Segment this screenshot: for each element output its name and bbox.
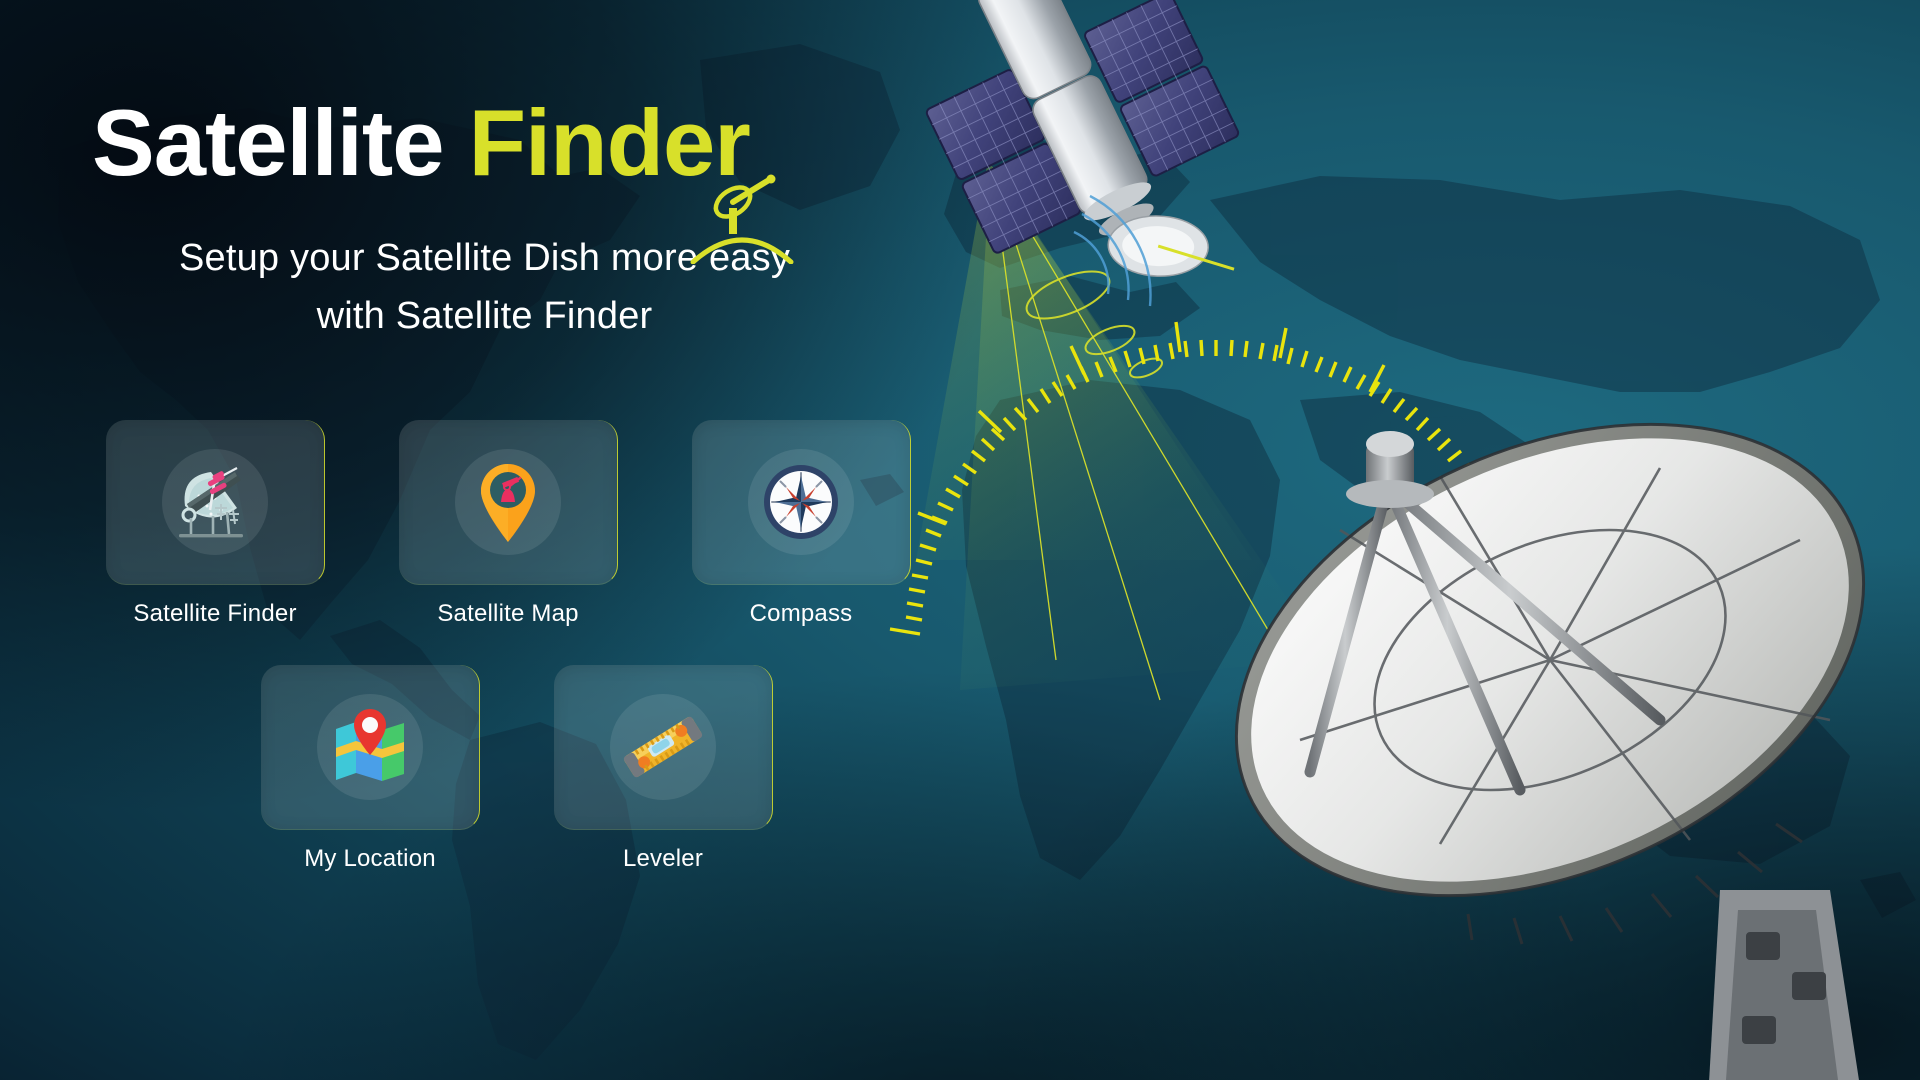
title-main: Satellite (92, 90, 444, 195)
feature-grid: Satellite Finder (106, 420, 936, 873)
page-title: Satellite Finder (92, 96, 922, 190)
feature-cell-leveler: Leveler (554, 665, 772, 873)
feature-cell-my-location: My Location (261, 665, 479, 873)
feature-label: Satellite Map (437, 600, 578, 628)
feature-cell-compass: Compass (692, 420, 910, 628)
feature-cell-satellite-finder: Satellite Finder (106, 420, 324, 628)
feature-card-leveler[interactable] (554, 665, 773, 830)
compass-icon (753, 454, 849, 550)
hero-text-block: Satellite Finder Setup your Satellite Di… (92, 96, 922, 346)
feature-row-2: My Location (261, 665, 936, 873)
title-satellite-dish-icon (687, 174, 797, 264)
feature-label: My Location (304, 845, 436, 873)
feature-card-satellite-finder[interactable] (106, 420, 325, 585)
feature-label: Compass (750, 600, 853, 628)
feature-card-satellite-map[interactable] (399, 420, 618, 585)
feature-label: Leveler (623, 845, 703, 873)
subtitle-line-2: with Satellite Finder (317, 295, 653, 337)
feature-card-compass[interactable] (692, 420, 911, 585)
map-location-icon (322, 699, 418, 795)
map-pin-satellite-icon (460, 454, 556, 550)
feature-cell-satellite-map: Satellite Map (399, 420, 617, 628)
feature-card-my-location[interactable] (261, 665, 480, 830)
app-splash-screen: Satellite Finder Setup your Satellite Di… (0, 0, 1920, 1080)
feature-row-1: Satellite Finder (106, 420, 936, 628)
spirit-level-icon (615, 699, 711, 795)
feature-label: Satellite Finder (133, 600, 296, 628)
satellite-dish-icon (167, 454, 263, 550)
